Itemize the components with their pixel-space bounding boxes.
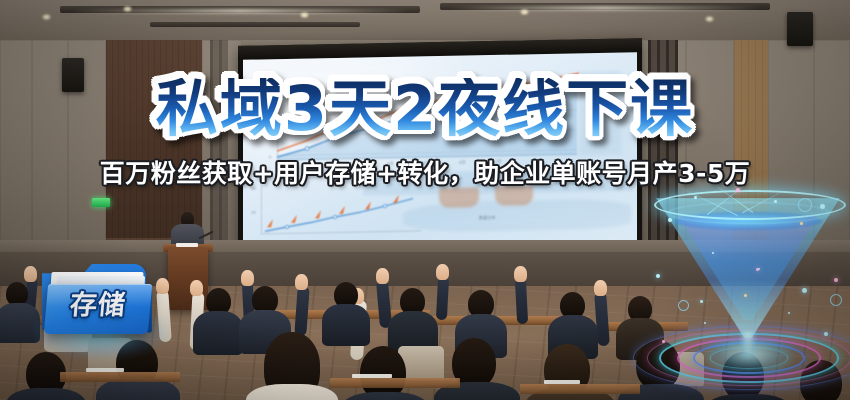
raised-hand [190,280,203,296]
funnel-spout [740,332,756,358]
projection-screen: 60 40 20 0 1月 2月 3月 [238,38,642,255]
handout [544,380,580,384]
desk [330,378,460,388]
storage-folder-badge[interactable]: 存储 [30,258,170,364]
exit-sign [92,198,110,207]
promo-banner: 60 40 20 0 1月 2月 3月 [0,0,850,400]
chart-blob-left [439,187,479,208]
raised-arm [515,278,528,325]
handout [86,368,124,372]
page-title: 私域3天2夜线下课 [0,78,850,140]
desk [60,372,180,382]
raised-arm [436,276,449,321]
ambient-particle [802,288,807,293]
raised-hand [376,268,389,284]
funnel-inner-glow [678,216,818,320]
ambient-particle [756,268,759,271]
chart-blob-right [495,185,533,206]
funnel-hologram [648,182,850,392]
page-subtitle: 百万粉丝获取+用户存储+转化，助企业单账号月产3-5万 [0,160,850,188]
raised-hand [241,270,254,286]
ambient-particle [700,300,703,303]
raised-hand [594,280,607,296]
desk [520,384,640,394]
handout [352,374,392,378]
raised-hand [436,264,449,280]
folder-badge-label: 存储 [47,292,149,319]
raised-hand [295,274,308,290]
raised-hand [514,266,527,282]
podium-notes [176,243,198,247]
wall-speaker-right [787,12,813,46]
